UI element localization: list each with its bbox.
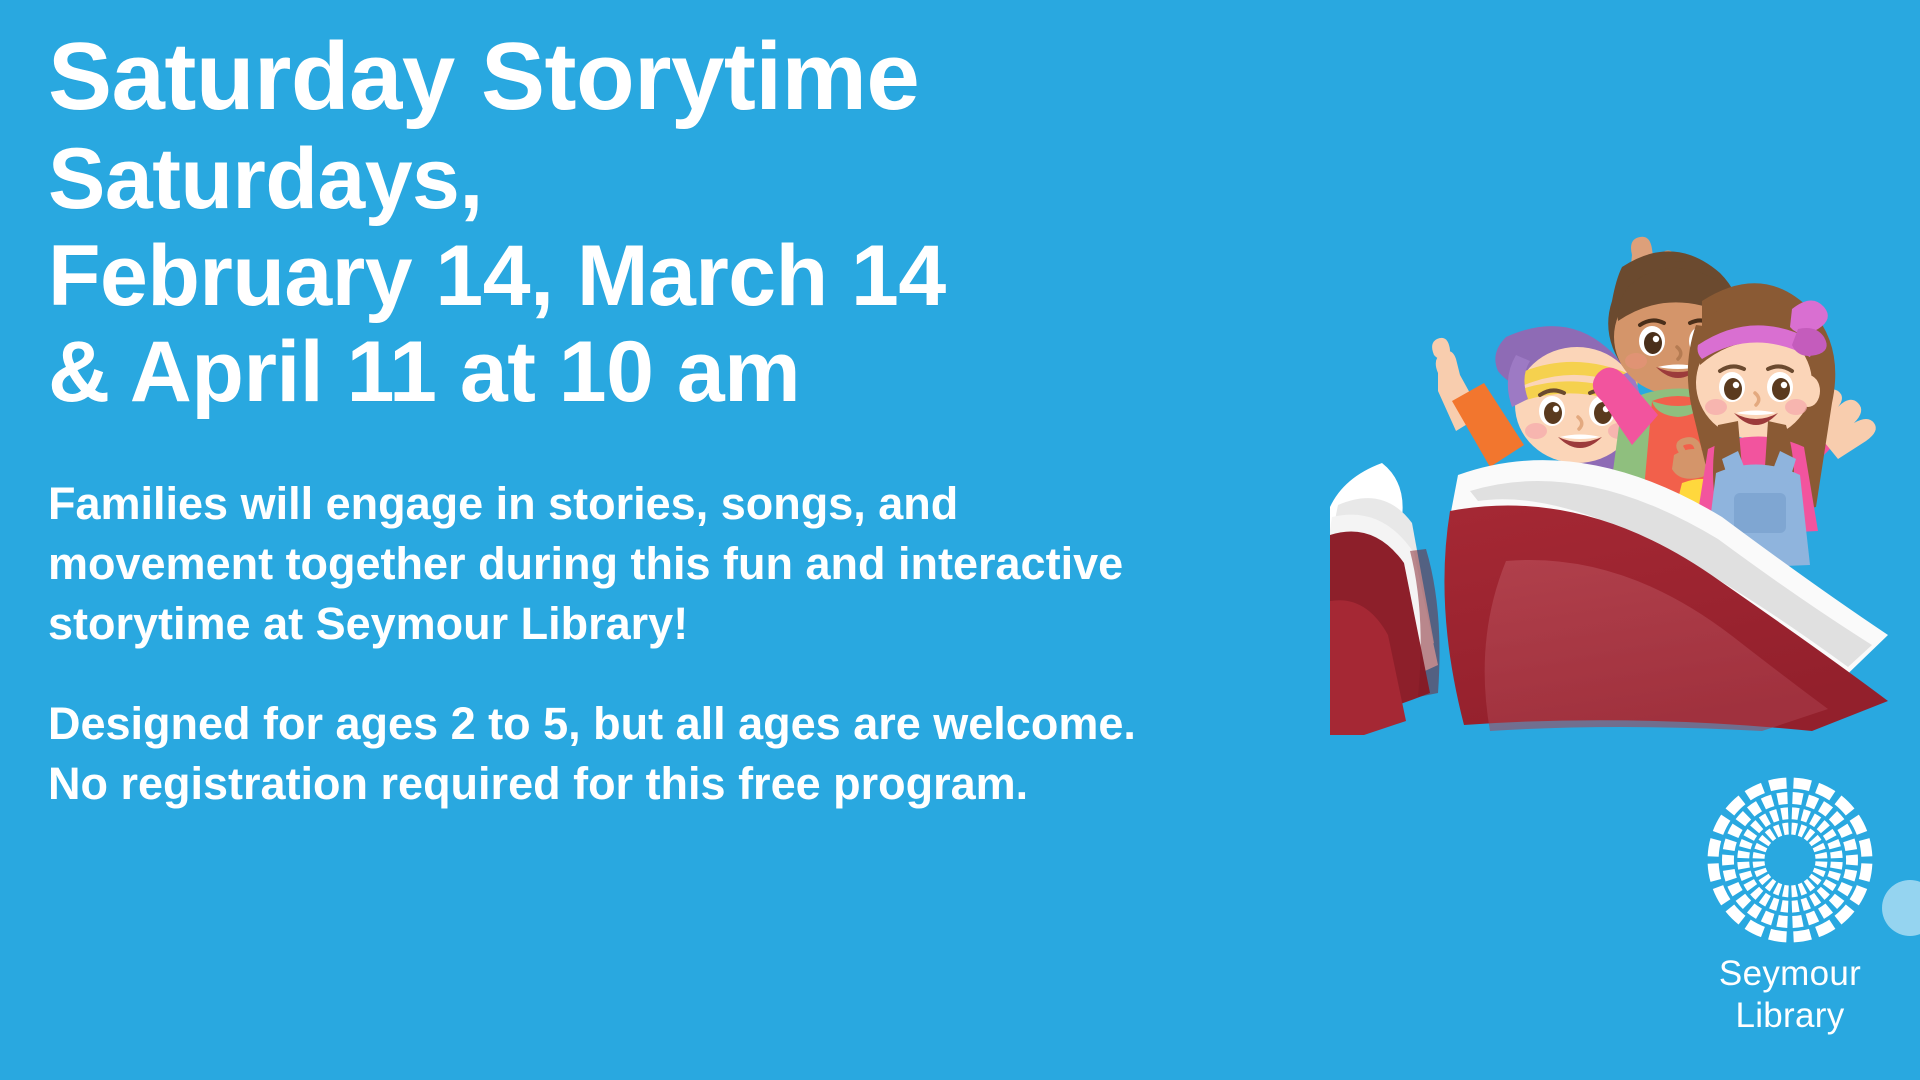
page-title: Saturday Storytime Saturdays, February 1…	[48, 22, 1568, 420]
headline-line-3: February 14, March 14	[48, 228, 1568, 324]
logo-wordmark: Seymour Library	[1690, 953, 1890, 1037]
paragraph-1-line-3: storytime at Seymour Library!	[48, 594, 1228, 654]
description-paragraph-1: Families will engage in stories, songs, …	[48, 474, 1228, 654]
storytime-poster: Saturday Storytime Saturdays, February 1…	[0, 0, 1920, 1080]
paragraph-1-line-2: movement together during this fun and in…	[48, 534, 1228, 594]
description-paragraph-2: Designed for ages 2 to 5, but all ages a…	[48, 694, 1228, 814]
logo-name-line-1: Seymour	[1690, 953, 1890, 995]
paragraph-1-line-1: Families will engage in stories, songs, …	[48, 474, 1228, 534]
description-block: Families will engage in stories, songs, …	[48, 474, 1568, 813]
headline-line-4: & April 11 at 10 am	[48, 324, 1568, 420]
text-column: Saturday Storytime Saturdays, February 1…	[48, 22, 1568, 814]
paragraph-2-line-1: Designed for ages 2 to 5, but all ages a…	[48, 694, 1228, 754]
headline-line-2: Saturdays,	[48, 131, 1568, 227]
logo-name-line-2: Library	[1690, 995, 1890, 1037]
seymour-library-logo: Seymour Library	[1690, 775, 1890, 1055]
radial-sunburst-icon	[1705, 775, 1875, 945]
headline-line-1: Saturday Storytime	[48, 22, 1568, 131]
paragraph-2-line-2: No registration required for this free p…	[48, 754, 1228, 814]
